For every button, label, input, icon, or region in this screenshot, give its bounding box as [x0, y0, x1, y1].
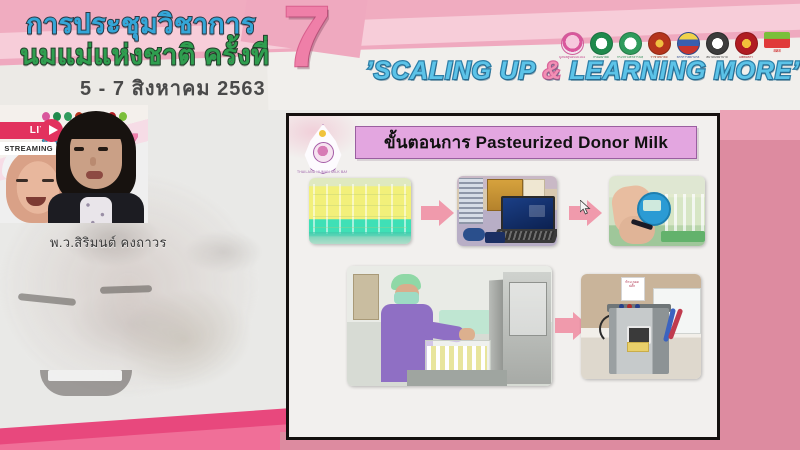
nurse-face-mask [394, 292, 419, 304]
conference-date: 5 - 7 สิงหาคม 2563 [80, 72, 266, 104]
department-of-health-logo: กระทรวงสาธารณสุข [618, 32, 642, 60]
milk-drop-dot [319, 130, 326, 137]
presentation-slide: THAILAND HUMAN MILK BANK ขั้นตอนการ Past… [286, 113, 720, 440]
thaihealth-logo: สสส [763, 32, 791, 60]
human-milk-bank-logo: THAILAND HUMAN MILK BANK [299, 122, 345, 178]
speaker-mouth [86, 171, 103, 179]
nurse-loading-bottles-photo [347, 266, 552, 386]
computer-mouse [463, 228, 485, 241]
arrow-head [439, 200, 454, 226]
speaker-eye-right [98, 147, 108, 151]
speaker-fringe [66, 119, 126, 139]
warning-sign-text: ห้าม ถอด ปลั๊ก [623, 280, 641, 289]
mother-and-baby-icon [313, 142, 334, 163]
hood-window [509, 282, 547, 336]
ministry-of-public-health-logo: กรมอนามัย [589, 32, 613, 60]
speaker-eye-left [74, 147, 84, 151]
slide-title-bar: ขั้นตอนการ Pasteurized Donor Milk [355, 126, 697, 159]
logo-mark [590, 32, 613, 55]
royal-crest-logo: สภาการพยาบาล [676, 32, 700, 60]
timer-in-hand-photo [609, 176, 705, 246]
slide-title: ขั้นตอนการ Pasteurized Donor Milk [384, 129, 668, 156]
desk-device [485, 232, 505, 243]
poster-child-eye-left [16, 179, 28, 182]
logo-caption: แพทยสภา [733, 56, 759, 60]
presentation-screen: การประชุมวิชาการ นมแม่แห่งชาติ ครั้งที่ … [0, 0, 800, 450]
thai-breastfeeding-foundation-logo: มูลนิธิศูนย์นมแม่แห่งประเทศไทย [560, 32, 584, 60]
green-tray [661, 231, 705, 242]
laptop-keyboard [498, 231, 555, 240]
wall-cabinet [353, 274, 379, 320]
slogan-prefix: ’SCALING UP [366, 57, 543, 85]
speaker-shirt [80, 197, 112, 223]
steel-bench [407, 370, 507, 386]
logo-mark [764, 32, 790, 48]
logo-caption: THAILAND HUMAN MILK BANK [297, 170, 347, 174]
milk-bottles-rack-photo [309, 178, 411, 244]
slogan-ampersand: & [543, 57, 562, 85]
logo-caption: สภาการพยาบาล [675, 56, 701, 60]
royal-college-emblem-logo: ราชวิทยาลัย [647, 32, 671, 60]
arrow-shaft [421, 206, 439, 220]
nursing-council-logo: สมาคมพยาบาล [705, 32, 729, 60]
logo-caption: สมาคมพยาบาล [704, 56, 730, 60]
floor-tint [309, 232, 411, 244]
mouse-cursor-icon [580, 200, 592, 216]
medical-association-logo: แพทยสภา [734, 32, 758, 60]
logo-caption: สสส [764, 49, 790, 53]
pasteurizer-machine-photo: ห้าม ถอด ปลั๊ก [581, 274, 701, 379]
logo-mark [735, 32, 758, 55]
watermark-teeth [48, 370, 122, 381]
sponsor-logos-row: มูลนิธิศูนย์นมแม่แห่งประเทศไทย กรมอนามัย… [560, 26, 800, 66]
speaker-name-caption: พ.ว.สิริมนต์ คงถาวร [50, 232, 167, 253]
logo-mark [561, 32, 584, 55]
logo-mark [619, 32, 642, 55]
logo-caption: กรมอนามัย [588, 56, 614, 60]
logo-caption: มูลนิธิศูนย์นมแม่แห่งประเทศไทย [559, 56, 585, 60]
computer-record-photo [457, 176, 557, 246]
logo-mark [648, 32, 671, 55]
rack-shelves [313, 188, 407, 228]
window-blind [459, 178, 483, 224]
logo-mark [706, 32, 729, 55]
logo-caption: ราชวิทยาลัย [646, 56, 672, 60]
streaming-badge-label: STREAMING [4, 144, 53, 153]
logo-mark [677, 32, 700, 55]
timer-display [643, 200, 661, 211]
watermark-hat [83, 251, 286, 430]
conference-title-line2: นมแม่แห่งชาติ ครั้งที่ [20, 33, 269, 76]
speaker-nose [90, 157, 96, 166]
arrow-shaft [555, 318, 573, 333]
speaker-video-pip[interactable]: การประชุมวิชาการ นมแม่แห่งชาติ ครั้งที่ … [0, 105, 148, 223]
machine-label [627, 342, 649, 352]
logo-caption: กระทรวงสาธารณสุข [617, 56, 643, 60]
conference-edition-number: 7 [283, 0, 331, 80]
conference-header-banner: การประชุมวิชาการ นมแม่แห่งชาติ ครั้งที่ … [0, 0, 800, 110]
right-pink-panel-light [720, 110, 800, 140]
right-pink-panel [720, 110, 800, 450]
speaker-figure [48, 111, 144, 223]
